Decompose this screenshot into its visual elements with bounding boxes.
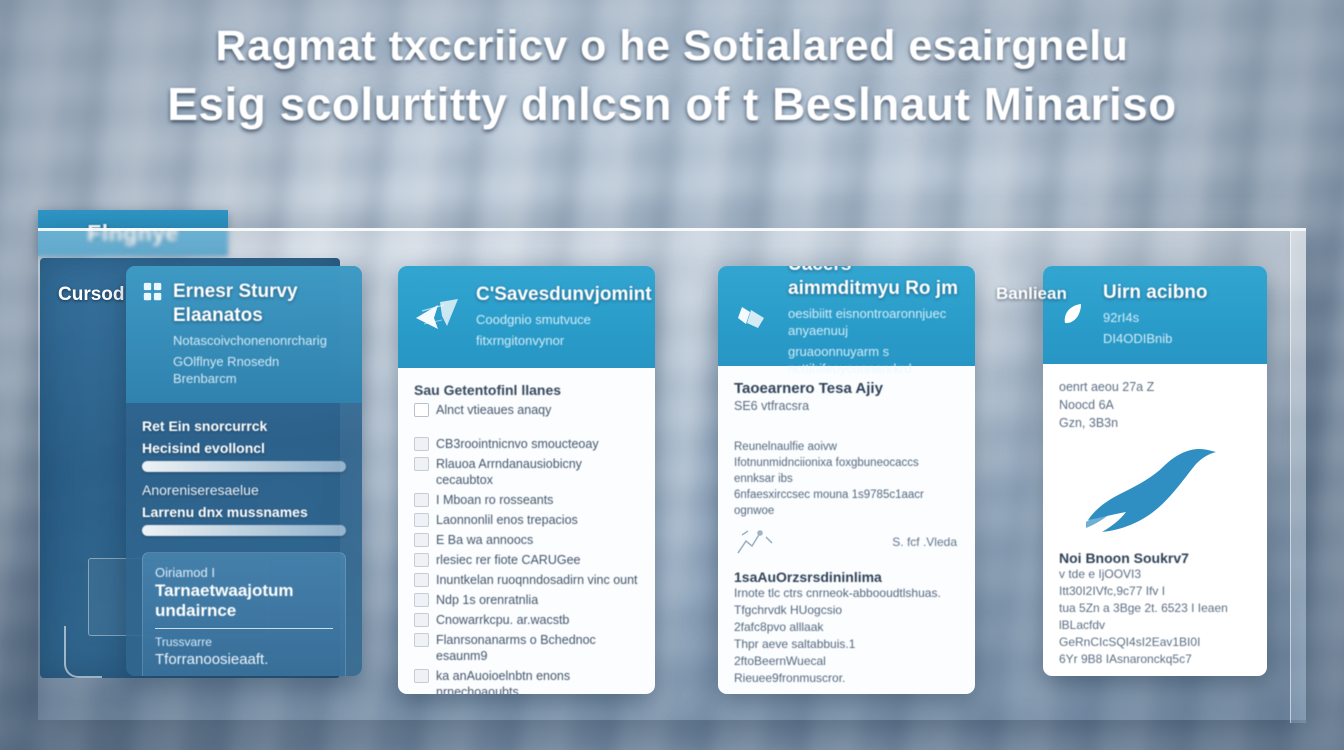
spacer xyxy=(734,413,959,439)
checklist-item-label: rlesiec rer fiote CARUGee xyxy=(436,552,581,568)
strategy-inset-block: Oiriamod I Tarnaetwaajotum undairnce Tru… xyxy=(142,552,346,676)
checklist-item[interactable]: I Mboan ro rosseants xyxy=(414,492,639,508)
report-list-item: Thpr aeve saltabbuis.1 xyxy=(734,636,959,653)
card-brand-subtitle-1: 92rI4s xyxy=(1103,309,1208,326)
report-list-title: 1saAuOrzsrsdininlima xyxy=(734,569,959,585)
checkbox-icon[interactable] xyxy=(414,593,429,607)
report-section-subtitle: SE6 vtfracsra xyxy=(734,399,959,413)
checklist-item[interactable]: ka anAuoioelnbtn enons nrnechoaoubts xyxy=(414,668,639,694)
card-strategy-header: Ernesr Sturvy Elaanatos Notascoivchoneno… xyxy=(126,266,362,403)
card-report-header: Uacers aimmditmyu Ro jm oesibiitt eisnon… xyxy=(718,266,975,366)
brand-kv-line: Gzn, 3B3n xyxy=(1059,414,1251,432)
checklist-item[interactable]: Laonnonlil enos trepacios xyxy=(414,512,639,528)
checklist-item[interactable]: Ndp 1s orenratnlia xyxy=(414,592,639,608)
strategy-inset-divider xyxy=(155,628,333,629)
brand-section-title: Noi Bnoon Soukrv7 xyxy=(1059,550,1251,566)
strategy-inset-title: Tarnaetwaajotum undairnce xyxy=(155,581,333,621)
checklist-item-label: Flanrsonanarms o Bchednoc esaunm9 xyxy=(436,632,639,664)
report-list-item: Irnote tlc ctrs cnrneok-abbooudtlshuas. xyxy=(734,585,959,602)
card-strategy-subtitle-2: GOlflnye Rnosedn Brenbarcm xyxy=(173,353,346,387)
strategy-progress-bar[interactable] xyxy=(142,525,346,536)
card-checklist-header: C'Savesdunvjomint Coodgnio smutvuce fitx… xyxy=(398,266,655,368)
checklist-item-label: Cnowarrkcpu. ar.wacstb xyxy=(436,612,569,628)
checklist-item[interactable]: Rlauoa Arrndanausiobicny cecaubtox xyxy=(414,456,639,488)
card-report-title: Uacers aimmditmyu Ro jm xyxy=(788,266,959,301)
card-brand-subtitle-2: DI4ODIBnib xyxy=(1103,330,1208,347)
strategy-progress-bar[interactable] xyxy=(142,461,346,472)
strategy-row-label: Ret Ein snorcurrck xyxy=(142,417,346,436)
checklist-item-label: I Mboan ro rosseants xyxy=(436,492,553,508)
checklist-item-label: Rlauoa Arrndanausiobicny cecaubtox xyxy=(436,456,639,488)
card-brand-body: oenrt aeou 27a Z Noocd 6A Gzn, 3B3n Noi … xyxy=(1043,364,1267,676)
checkbox-icon[interactable] xyxy=(414,457,429,471)
checklist-section-label: Sau Getentofinl llanes xyxy=(414,382,639,398)
checklist-item-label: CB3roointnicnvo smoucteoay xyxy=(436,436,599,452)
strategy-row-label: Hecisind evolloncl xyxy=(142,439,346,458)
report-metric-row: S. fcf .Vleda xyxy=(736,527,957,557)
checkbox-icon[interactable] xyxy=(414,493,429,507)
card-checklist[interactable]: C'Savesdunvjomint Coodgnio smutvuce fitx… xyxy=(398,266,655,694)
card-report[interactable]: Uacers aimmditmyu Ro jm oesibiitt eisnon… xyxy=(718,266,975,694)
strategy-inset-small: Trussvarre xyxy=(155,635,333,649)
report-section-title: Taoearnero Tesa Ajiy xyxy=(734,380,959,397)
report-list-item: Tfgchrvdk HUogcsio xyxy=(734,602,959,619)
check-badge-icon xyxy=(734,298,778,332)
report-paragraph: Ifotnunmidnciionixa foxgbuneocaccs ennks… xyxy=(734,455,959,487)
card-report-subtitle-2: gruaoonnuyarm s ncttihifeoyconnanrkrd xyxy=(788,343,959,377)
strategy-row-label: Anoreniseresaelue xyxy=(142,481,346,500)
brand-line: 6Yr 9B8 IAsnaronckq5c7 xyxy=(1059,651,1251,668)
checkbox-icon[interactable] xyxy=(414,403,429,417)
card-brand-title: Uirn acibno xyxy=(1103,281,1208,305)
hero-title: Ragmat txccriicv o he Sotialared esairgn… xyxy=(0,18,1344,134)
card-strategy[interactable]: Ernesr Sturvy Elaanatos Notascoivchoneno… xyxy=(126,266,362,676)
hero-title-line-1: Ragmat txccriicv o he Sotialared esairgn… xyxy=(0,18,1344,74)
card-strategy-body: Ret Ein snorcurrck Hecisind evolloncl An… xyxy=(126,403,362,676)
checklist-item[interactable]: Flanrsonanarms o Bchednoc esaunm9 xyxy=(414,632,639,664)
brand-rail-label: Banliean xyxy=(996,284,1067,304)
strategy-inset-line: Tforranoosieaaft. xyxy=(155,651,333,668)
checklist-item-label: Inuntkelan ruoqnndosadirn vinc ount xyxy=(436,572,638,588)
checkbox-icon[interactable] xyxy=(414,513,429,527)
hero-title-line-2: Esig scolurtitty dnlcsn of t Beslnaut Mi… xyxy=(0,74,1344,134)
checkbox-icon[interactable] xyxy=(414,553,429,567)
checkbox-icon[interactable] xyxy=(414,669,429,683)
card-checklist-subtitle-2: fitxrngitonvynor xyxy=(476,332,652,349)
card-brand[interactable]: Uirn acibno 92rI4s DI4ODIBnib oenrt aeou… xyxy=(1043,266,1267,676)
card-strategy-subtitle-1: Notascoivchonenonrcharig xyxy=(173,332,346,349)
report-list-item: 2fafc8pvo alllaak xyxy=(734,619,959,636)
brand-line: GeRnCIcSQI4sI2Eav1BI0I xyxy=(1059,634,1251,651)
brand-line: Itt30I2IVfc,9c77 Ifv I xyxy=(1059,583,1251,600)
checkbox-icon[interactable] xyxy=(414,533,429,547)
brand-kv-line: Noocd 6A xyxy=(1059,396,1251,414)
card-strategy-title: Ernesr Sturvy Elaanatos xyxy=(173,280,346,328)
bird-brand-mark xyxy=(1080,442,1230,538)
card-checklist-body: Sau Getentofinl llanes Alnct vtieaues an… xyxy=(398,368,655,694)
panel-right-rail xyxy=(1290,231,1306,723)
checklist-item-label: E Ba wa annoocs xyxy=(436,532,533,548)
spacer xyxy=(414,422,639,432)
checklist-item-label: Ndp 1s orenratnlia xyxy=(436,592,538,608)
report-paragraph: 6nfaesxirccsec mouna 1s9785c1aacr ognwoe xyxy=(734,487,959,519)
card-checklist-title: C'Savesdunvjomint xyxy=(476,283,652,307)
checkbox-icon[interactable] xyxy=(414,613,429,627)
report-list-item: 2ftoBeernWuecal xyxy=(734,653,959,670)
checklist-item-label: ka anAuoioelnbtn enons nrnechoaoubts xyxy=(436,668,639,694)
sparkline-icon xyxy=(736,527,778,557)
checkbox-icon[interactable] xyxy=(414,573,429,587)
brand-kv-line: oenrt aeou 27a Z xyxy=(1059,378,1251,396)
checklist-item[interactable]: E Ba wa annoocs xyxy=(414,532,639,548)
grid-strategy-icon xyxy=(142,281,164,303)
checklist-item[interactable]: Alnct vtieaues anaqy xyxy=(414,402,639,418)
checkbox-icon[interactable] xyxy=(414,437,429,451)
sidebar-hook-icon xyxy=(64,626,102,678)
report-metric-value: S. fcf .Vleda xyxy=(892,535,957,549)
checklist-item-label: Laonnonlil enos trepacios xyxy=(436,512,578,528)
brand-line: v tde e IjOOVI3 xyxy=(1059,566,1251,583)
report-list-item: Rieuee9fronmuscror. xyxy=(734,670,959,687)
strategy-row-label: Larrenu dnx mussnames xyxy=(142,503,346,522)
card-checklist-subtitle-1: Coodgnio smutvuce xyxy=(476,311,652,328)
card-report-body: Taoearnero Tesa Ajiy SE6 vtfracsra Reune… xyxy=(718,366,975,694)
checklist-item[interactable]: rlesiec rer fiote CARUGee xyxy=(414,552,639,568)
sidebar-rail-label: Cursod xyxy=(58,284,125,306)
report-paragraph: Reunelnaulfie aoivw xyxy=(734,439,959,455)
checklist-item-label: Alnct vtieaues anaqy xyxy=(436,402,551,418)
paper-plane-icon xyxy=(414,296,466,336)
card-brand-header: Uirn acibno 92rI4s DI4ODIBnib xyxy=(1043,266,1267,364)
card-report-subtitle-1: oesibiitt eisnontroaronnjuec anyaenuuj xyxy=(788,305,959,339)
checkbox-icon[interactable] xyxy=(414,633,429,647)
strategy-inset-eyebrow: Oiriamod I xyxy=(155,565,333,580)
checklist-item[interactable]: CB3roointnicnvo smoucteoay xyxy=(414,436,639,452)
brand-line: tua 5Zn a 3Bge 2t. 6523 I Ieaen lBLacfdv xyxy=(1059,600,1251,634)
checklist-item[interactable]: Cnowarrkcpu. ar.wacstb xyxy=(414,612,639,628)
checklist-item[interactable]: Inuntkelan ruoqnndosadirn vinc ount xyxy=(414,572,639,588)
